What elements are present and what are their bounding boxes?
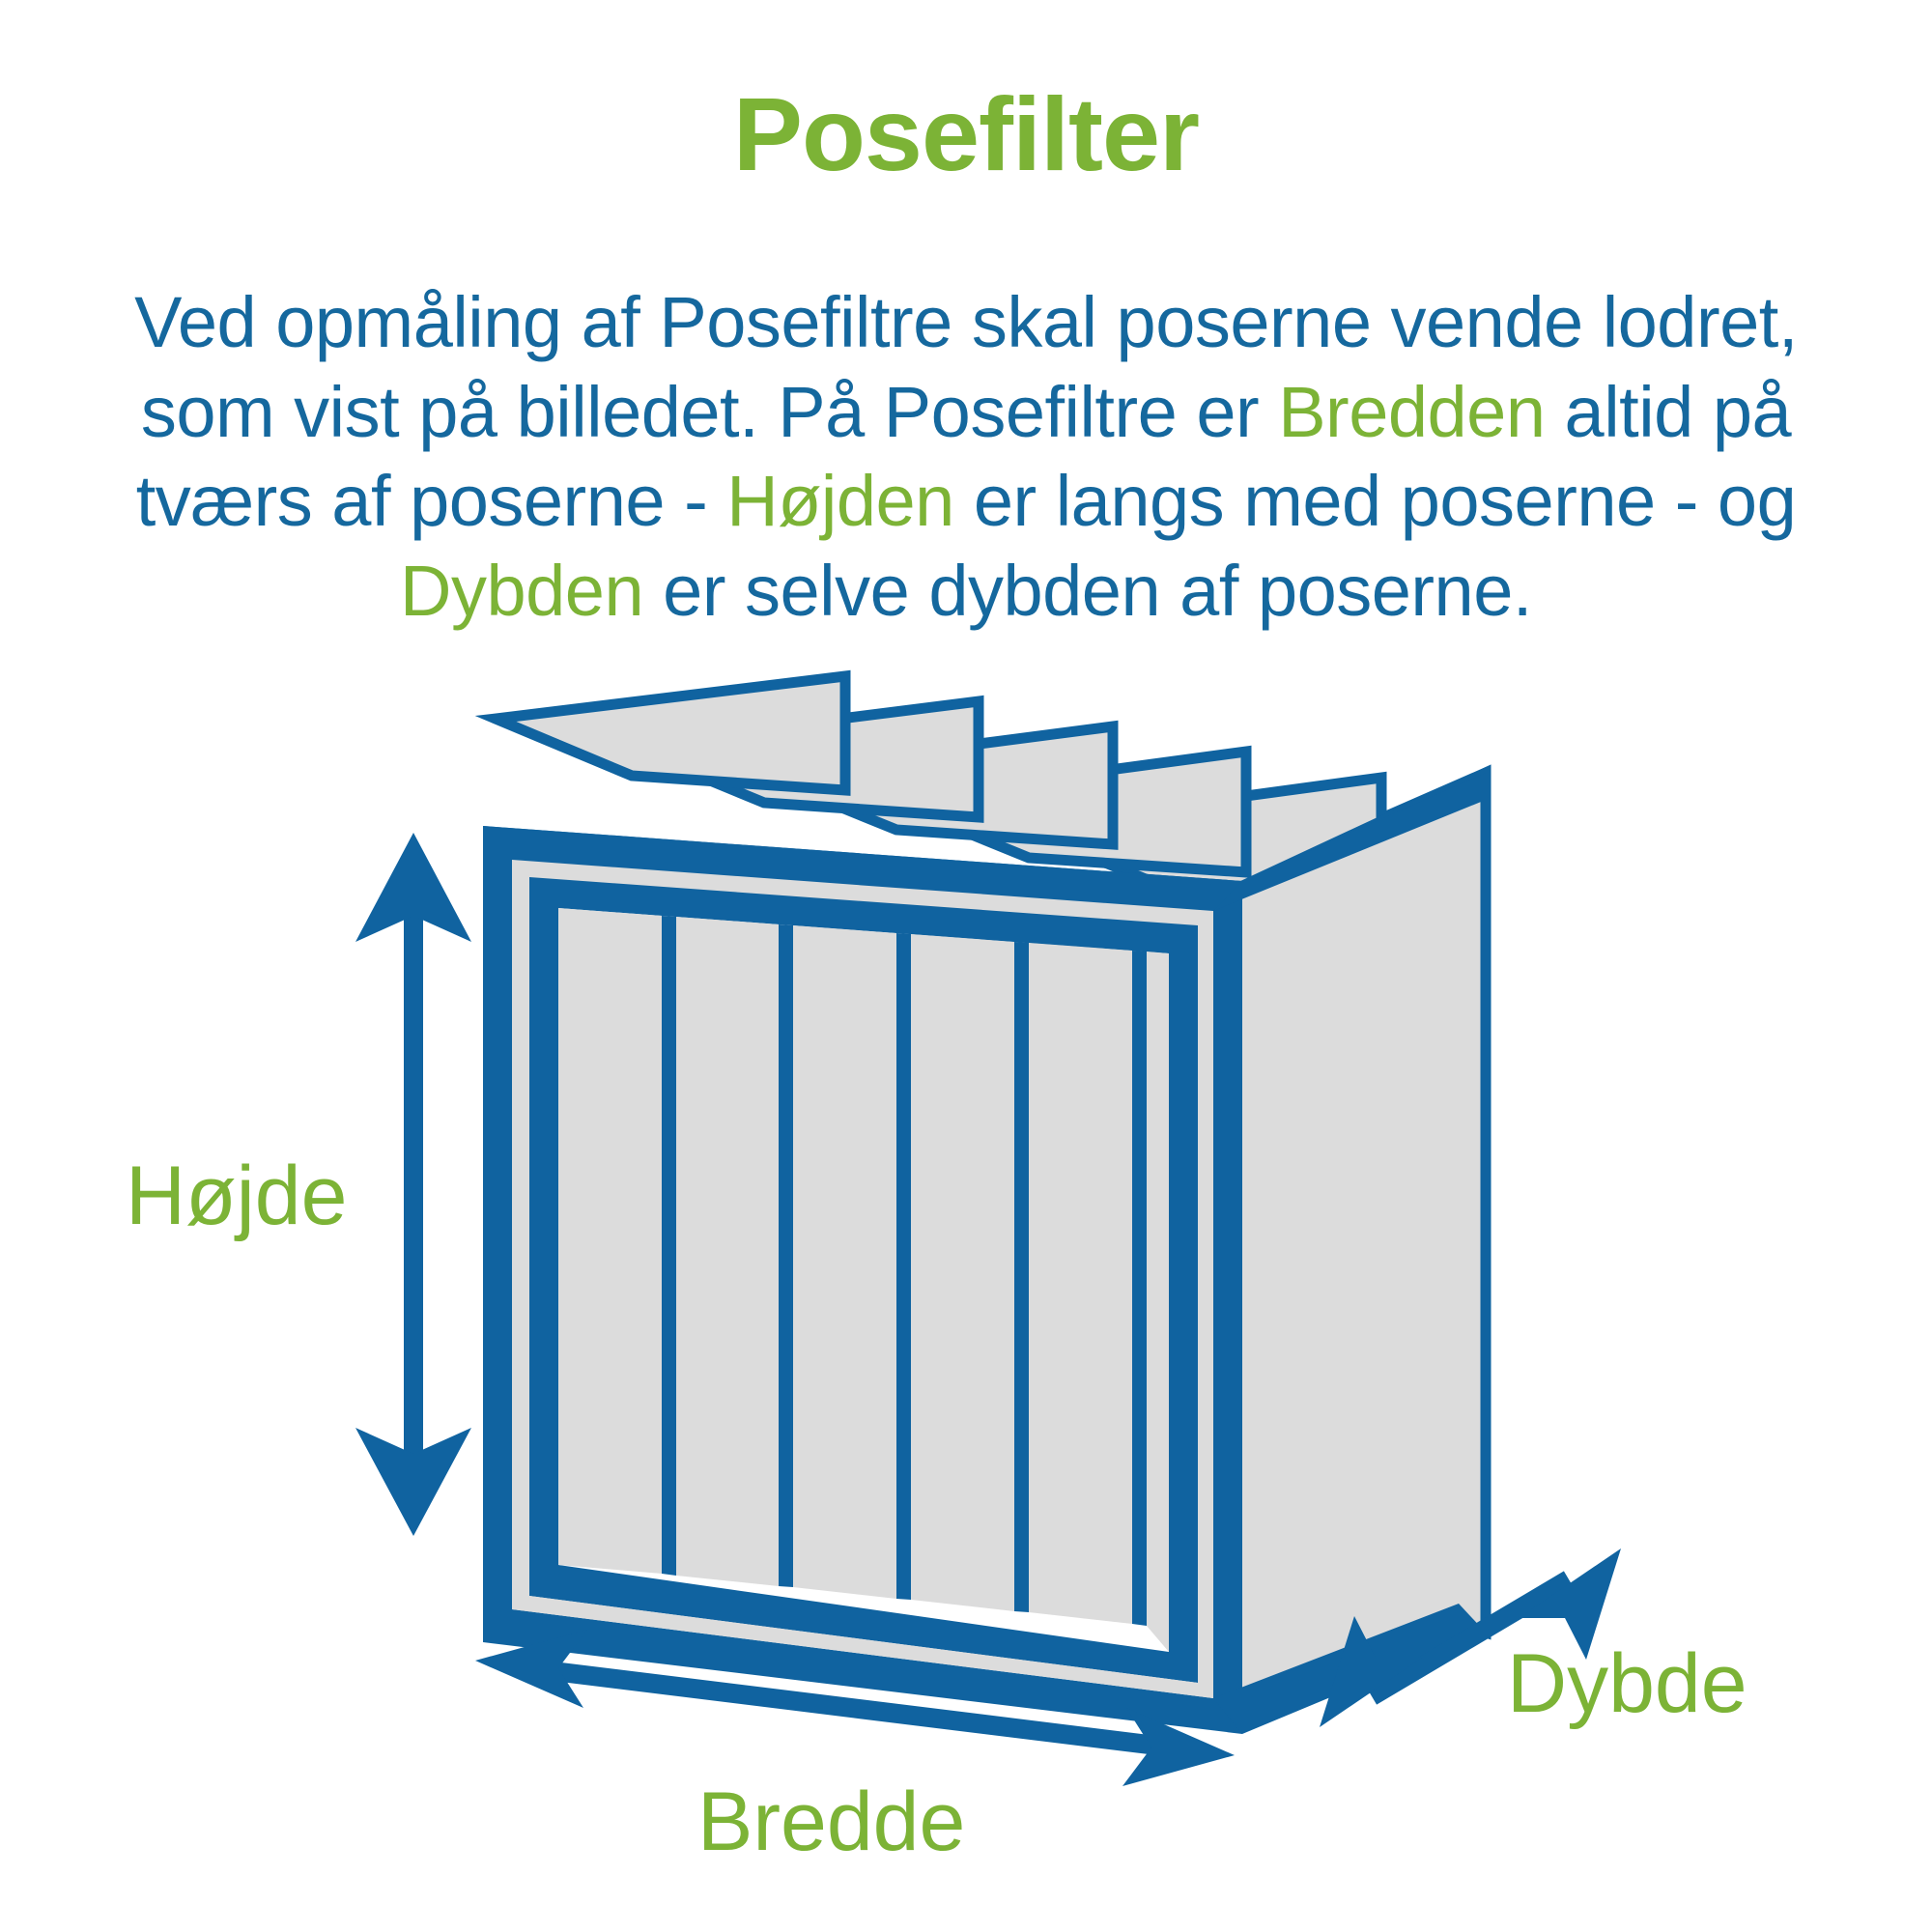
depth-side-face [1236, 773, 1486, 1719]
pocket-face-3 [793, 925, 896, 1599]
dimension-label-width: Bredde [697, 1780, 965, 1863]
pocket-face-6 [1147, 952, 1169, 1652]
pocket-face-2 [676, 917, 779, 1586]
height-arrow [355, 833, 471, 1536]
front-pocket-faces [558, 908, 1169, 1652]
pocket-face-1 [558, 908, 662, 1574]
dimension-label-depth: Dybde [1507, 1642, 1747, 1725]
poster-page: Posefilter Ved opmåling af Posefiltre sk… [0, 0, 1932, 1932]
filter-bag-1 [496, 676, 845, 790]
dimension-label-height: Højde [126, 1154, 347, 1237]
pocket-face-4 [911, 934, 1014, 1611]
pocket-face-5 [1029, 943, 1132, 1624]
